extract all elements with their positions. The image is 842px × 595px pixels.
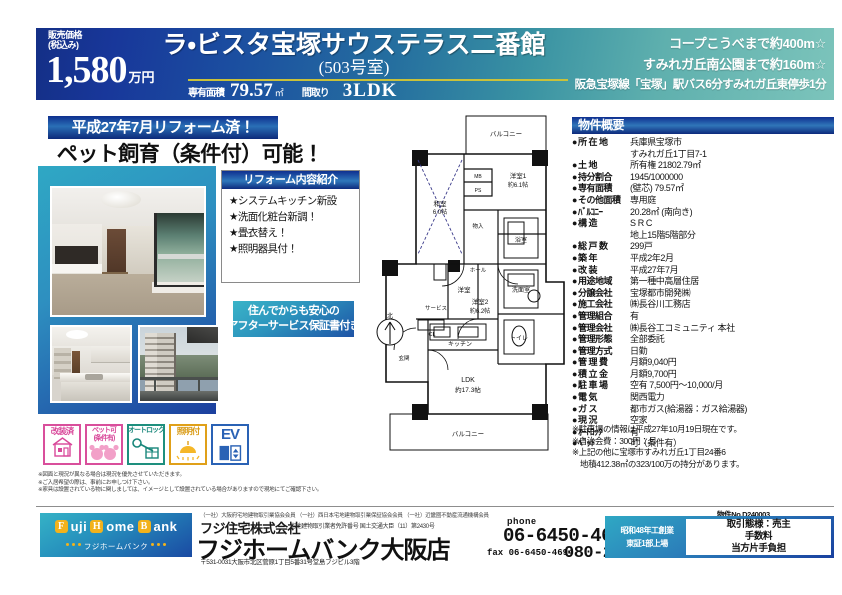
badge-elevator: EV xyxy=(211,424,249,465)
detail-value: 20.28㎡ (南向き) xyxy=(630,207,692,219)
fp-label-youshitsu2: 洋室2 xyxy=(472,297,489,306)
badge-pet-label-1: ペット可 xyxy=(92,427,116,435)
established-line-1: 昭和48年工創業 xyxy=(621,524,674,537)
detail-key: ●ﾊﾞﾙｺﾆｰ xyxy=(572,207,630,219)
company-logo: F uji H ome B ank フジホームバンク xyxy=(40,513,192,557)
detail-key: ●総 戸 数 xyxy=(572,241,630,253)
house-icon xyxy=(47,437,77,459)
fp-label-youshitsu3: 洋室 xyxy=(458,285,472,294)
detail-value: 299戸 xyxy=(630,241,652,253)
logo-subtitle: フジホームバンク xyxy=(84,541,148,552)
logo-word-uji: uji xyxy=(71,519,88,534)
after-service-line-2: アフターサービス保証書付き xyxy=(227,319,359,334)
logo-letter-h: H xyxy=(90,520,103,533)
detail-key: ●管理組合 xyxy=(572,311,630,323)
detail-value: 関西電力 xyxy=(630,392,664,404)
corporation-address: 〒531-0031大阪市北区菅原1丁目5番31号堂島フジビル3階 xyxy=(200,556,359,566)
detail-key: ●駐 車 場 xyxy=(572,380,630,392)
reform-banner: 平成27年7月リフォーム済！ xyxy=(48,116,278,139)
logo-letter-f: F xyxy=(55,520,68,533)
access-block: コープこうべまで約400m☆ すみれガ丘南公園まで約160m☆ 阪急宝塚線「宝塚… xyxy=(466,33,826,96)
access-line-2: すみれガ丘南公園まで約160m☆ xyxy=(466,54,826,75)
detail-key: ●管理方式 xyxy=(572,346,630,358)
key-lock-icon xyxy=(131,436,161,460)
detail-value: 専用庭 xyxy=(630,195,656,207)
detail-key: ●専有面積 xyxy=(572,183,630,195)
fp-label-entry: 玄関 xyxy=(398,354,410,362)
detail-value: 都市ガス(給湯器：ガス給湯器) xyxy=(630,404,747,416)
badge-renovated: 改装済 xyxy=(43,424,81,465)
detail-value: 1945/1000000 xyxy=(630,172,683,184)
detail-value: 空有 7,500円～10,000/月 xyxy=(630,380,723,392)
detail-key: ●積 立 金 xyxy=(572,369,630,381)
license-number: 宅地建物取引業者免許番号 国土交通大臣（11）第2430号 xyxy=(290,521,435,530)
logo-letter-b: B xyxy=(138,520,151,533)
fp-label-storage: 物入 xyxy=(472,222,484,230)
ceiling-light-icon xyxy=(173,437,203,461)
svg-text:北: 北 xyxy=(387,312,393,320)
reform-content-box: リフォーム内容紹介 ★システムキッチン新設 ★洗面化粧台新調！ ★畳衣替え！ ★… xyxy=(221,170,360,283)
after-service-box: 住んでからも安心の アフターサービス保証書付き xyxy=(231,299,356,339)
photo-kitchen xyxy=(50,325,132,403)
detail-value: 平成27年7月 xyxy=(630,265,678,277)
detail-key: ●電 気 xyxy=(572,392,630,404)
established-line-2: 東証1部上場 xyxy=(626,537,667,550)
detail-value: 月額9,700円 xyxy=(630,369,676,381)
fp-label-mb: MB xyxy=(474,174,482,180)
fp-label-youshitsu1: 洋室1 xyxy=(510,171,527,180)
pet-headline: ペット飼育（条件付）可能！ xyxy=(40,142,340,168)
fp-label-toilet: トイレ xyxy=(510,336,528,342)
badge-renovated-label: 改装済 xyxy=(51,427,74,436)
detail-value: 平成2年2月 xyxy=(630,253,674,265)
detail-key: ●ガ ス xyxy=(572,404,630,416)
detail-value: 有 xyxy=(630,311,639,323)
svg-text:6.0帖: 6.0帖 xyxy=(433,208,447,216)
reform-box-title: リフォーム内容紹介 xyxy=(222,171,359,189)
reform-item: ★システムキッチン新設 xyxy=(229,193,355,209)
header-banner: 販売価格 (税込み) 1,580 万円 ラ・ビスタ宝塚サウステラス二番館 (50… xyxy=(36,28,834,100)
detail-key: ●その他面積 xyxy=(572,195,630,207)
fp-label-sanitary: 洗面室 xyxy=(512,286,530,294)
detail-value-cont: 地上15階5階部分 xyxy=(630,230,695,242)
detail-value-cont: すみれガ丘1丁目7-1 xyxy=(630,149,707,161)
photo-balcony-view xyxy=(138,325,220,403)
fp-label-ldk: LDK xyxy=(461,377,475,384)
area-unit: ㎡ xyxy=(275,86,284,99)
fp-label-hall: ホール xyxy=(470,267,487,274)
company-established: 昭和48年工創業 東証1部上場 xyxy=(608,519,686,555)
fp-label-kitchen: キッチン xyxy=(448,341,472,348)
area-value: 79.57 xyxy=(230,80,273,102)
detail-value: 兵庫県宝塚市 xyxy=(630,137,682,149)
transaction-terms-box: 昭和48年工創業 東証1部上場 取引態様：売主 手数料 当方片手負担 xyxy=(605,516,834,558)
detail-key: ●管理形態 xyxy=(572,334,630,346)
badge-auto-lock-label: オートロック xyxy=(128,427,164,435)
detail-key: ●分譲会社 xyxy=(572,288,630,300)
details-notes: ※駐車場の情報は平成27年10月19日現在です。 ※自治会費：300円：月 ※上… xyxy=(572,424,840,470)
reform-item: ★照明器具付！ xyxy=(229,241,355,257)
access-line-1: コープこうべまで約400m☆ xyxy=(466,33,826,54)
layout-value: 3LDK xyxy=(343,80,398,102)
after-service-line-1: 住んでからも安心の xyxy=(248,304,339,319)
photo-interior-room xyxy=(50,186,206,317)
fp-label-bath: 浴室 xyxy=(515,236,527,244)
logo-word-ank: ank xyxy=(154,519,178,534)
detail-value: 第一種中高層住居 xyxy=(630,276,699,288)
note-line: 地積412.38㎡の323/100万の持分があります。 xyxy=(572,459,840,471)
terms-line: 取引態様：売主 xyxy=(727,519,791,531)
details-header: 物件概要 xyxy=(572,117,834,134)
badge-lighting: 照明付 xyxy=(169,424,207,465)
detail-key: ●所 在 地 xyxy=(572,137,630,149)
badge-elevator-label: EV xyxy=(221,427,239,443)
reform-item-list: ★システムキッチン新設 ★洗面化粧台新調！ ★畳衣替え！ ★照明器具付！ xyxy=(222,189,359,257)
paw-icon xyxy=(88,444,120,462)
fp-label-balcony-top: バルコニー xyxy=(490,130,522,138)
detail-key: ●持分割合 xyxy=(572,172,630,184)
badge-pet-label-2: (条件有) xyxy=(94,435,115,443)
fp-label-washitsu: 和室 xyxy=(434,199,448,208)
detail-key: ●改 装 xyxy=(572,265,630,277)
detail-value: 月額9,040円 xyxy=(630,357,676,369)
fp-label-closet: CL xyxy=(428,332,435,338)
fp-label-service: サービス xyxy=(425,304,447,312)
area-key: 専有面積 xyxy=(188,84,224,99)
disclaimer-line: ※家具は設置されている物に関しましては、イメージとして設置されている場合がありま… xyxy=(38,487,338,495)
detail-value: 日勤 xyxy=(630,346,647,358)
reform-item: ★畳衣替え！ xyxy=(229,225,355,241)
note-line: ※駐車場の情報は平成27年10月19日現在です。 xyxy=(572,424,840,436)
terms-line: 当方片手負担 xyxy=(731,543,786,555)
detail-key: ●施工会社 xyxy=(572,299,630,311)
detail-value: ㈱長谷川工務店 xyxy=(630,299,690,311)
detail-key: ●築 年 xyxy=(572,253,630,265)
detail-key: ●土 地 xyxy=(572,160,630,172)
fp-label-ps: PS xyxy=(475,188,482,194)
access-line-3: 阪急宝塚線「宝塚」駅バス6分すみれガ丘東停歩1分 xyxy=(466,75,826,96)
footer-divider xyxy=(36,506,834,507)
badge-auto-lock: オートロック xyxy=(127,424,165,465)
note-line: ※自治会費：300円：月 xyxy=(572,436,840,448)
detail-value: 全部委託 xyxy=(630,334,664,346)
fax-number: fax 06-6450-4694 xyxy=(487,548,573,558)
detail-value: S R C xyxy=(630,218,652,230)
floor-plan: 北 バルコニー バルコニー 和室 6.0帖 洋室1 約6.1帖 洋室2 約6.2… xyxy=(368,114,568,464)
compass-icon: 北 xyxy=(377,312,403,345)
flyer-page: 販売価格 (税込み) 1,580 万円 ラ・ビスタ宝塚サウステラス二番館 (50… xyxy=(0,0,842,595)
elevator-icon xyxy=(215,444,245,463)
disclaimer-line: ※ご入居希望の際は、事前にお申しつけ下さい。 xyxy=(38,480,338,488)
price-value: 1,580 xyxy=(46,50,127,90)
detail-key: ●管理会社 xyxy=(572,323,630,335)
layout-key: 間取り xyxy=(302,84,329,99)
detail-key: ●用途地域 xyxy=(572,276,630,288)
disclaimer-block: ※図面と現況が異なる場合は現況を優先させていただきます。 ※ご入居希望の際は、事… xyxy=(38,472,338,495)
logo-word-ome: ome xyxy=(106,519,134,534)
feature-badges: 改装済 ペット可 (条件有) オートロック xyxy=(43,424,249,465)
svg-text:約17.3帖: 約17.3帖 xyxy=(455,385,481,394)
disclaimer-line: ※図面と現況が異なる場合は現況を優先させていただきます。 xyxy=(38,472,338,480)
details-list: ●所 在 地兵庫県宝塚市 すみれガ丘1丁目7-1 ●土 地所有権 21802.7… xyxy=(572,137,837,450)
detail-value: 宝塚都市開発㈱ xyxy=(630,288,690,300)
transaction-terms: 取引態様：売主 手数料 当方片手負担 xyxy=(686,519,831,555)
badge-pet-ok: ペット可 (条件有) xyxy=(85,424,123,465)
fp-label-balcony-bottom: バルコニー xyxy=(452,430,484,438)
detail-key: ●管 理 費 xyxy=(572,357,630,369)
svg-text:約6.2帖: 約6.2帖 xyxy=(470,307,490,315)
detail-value: ㈱長谷工コミュニティ 本社 xyxy=(630,323,735,335)
badge-lighting-label: 照明付 xyxy=(177,427,200,436)
svg-text:約6.1帖: 約6.1帖 xyxy=(508,181,528,189)
terms-line: 手数料 xyxy=(745,531,772,543)
reform-item: ★洗面化粧台新調！ xyxy=(229,209,355,225)
detail-value: (壁芯) 79.57㎡ xyxy=(630,183,684,195)
detail-key: ●構 造 xyxy=(572,218,630,230)
note-line: ※上記の他に宝塚市すみれガ丘1丁目24番6 xyxy=(572,447,840,459)
detail-value: 所有権 21802.79㎡ xyxy=(630,160,701,172)
